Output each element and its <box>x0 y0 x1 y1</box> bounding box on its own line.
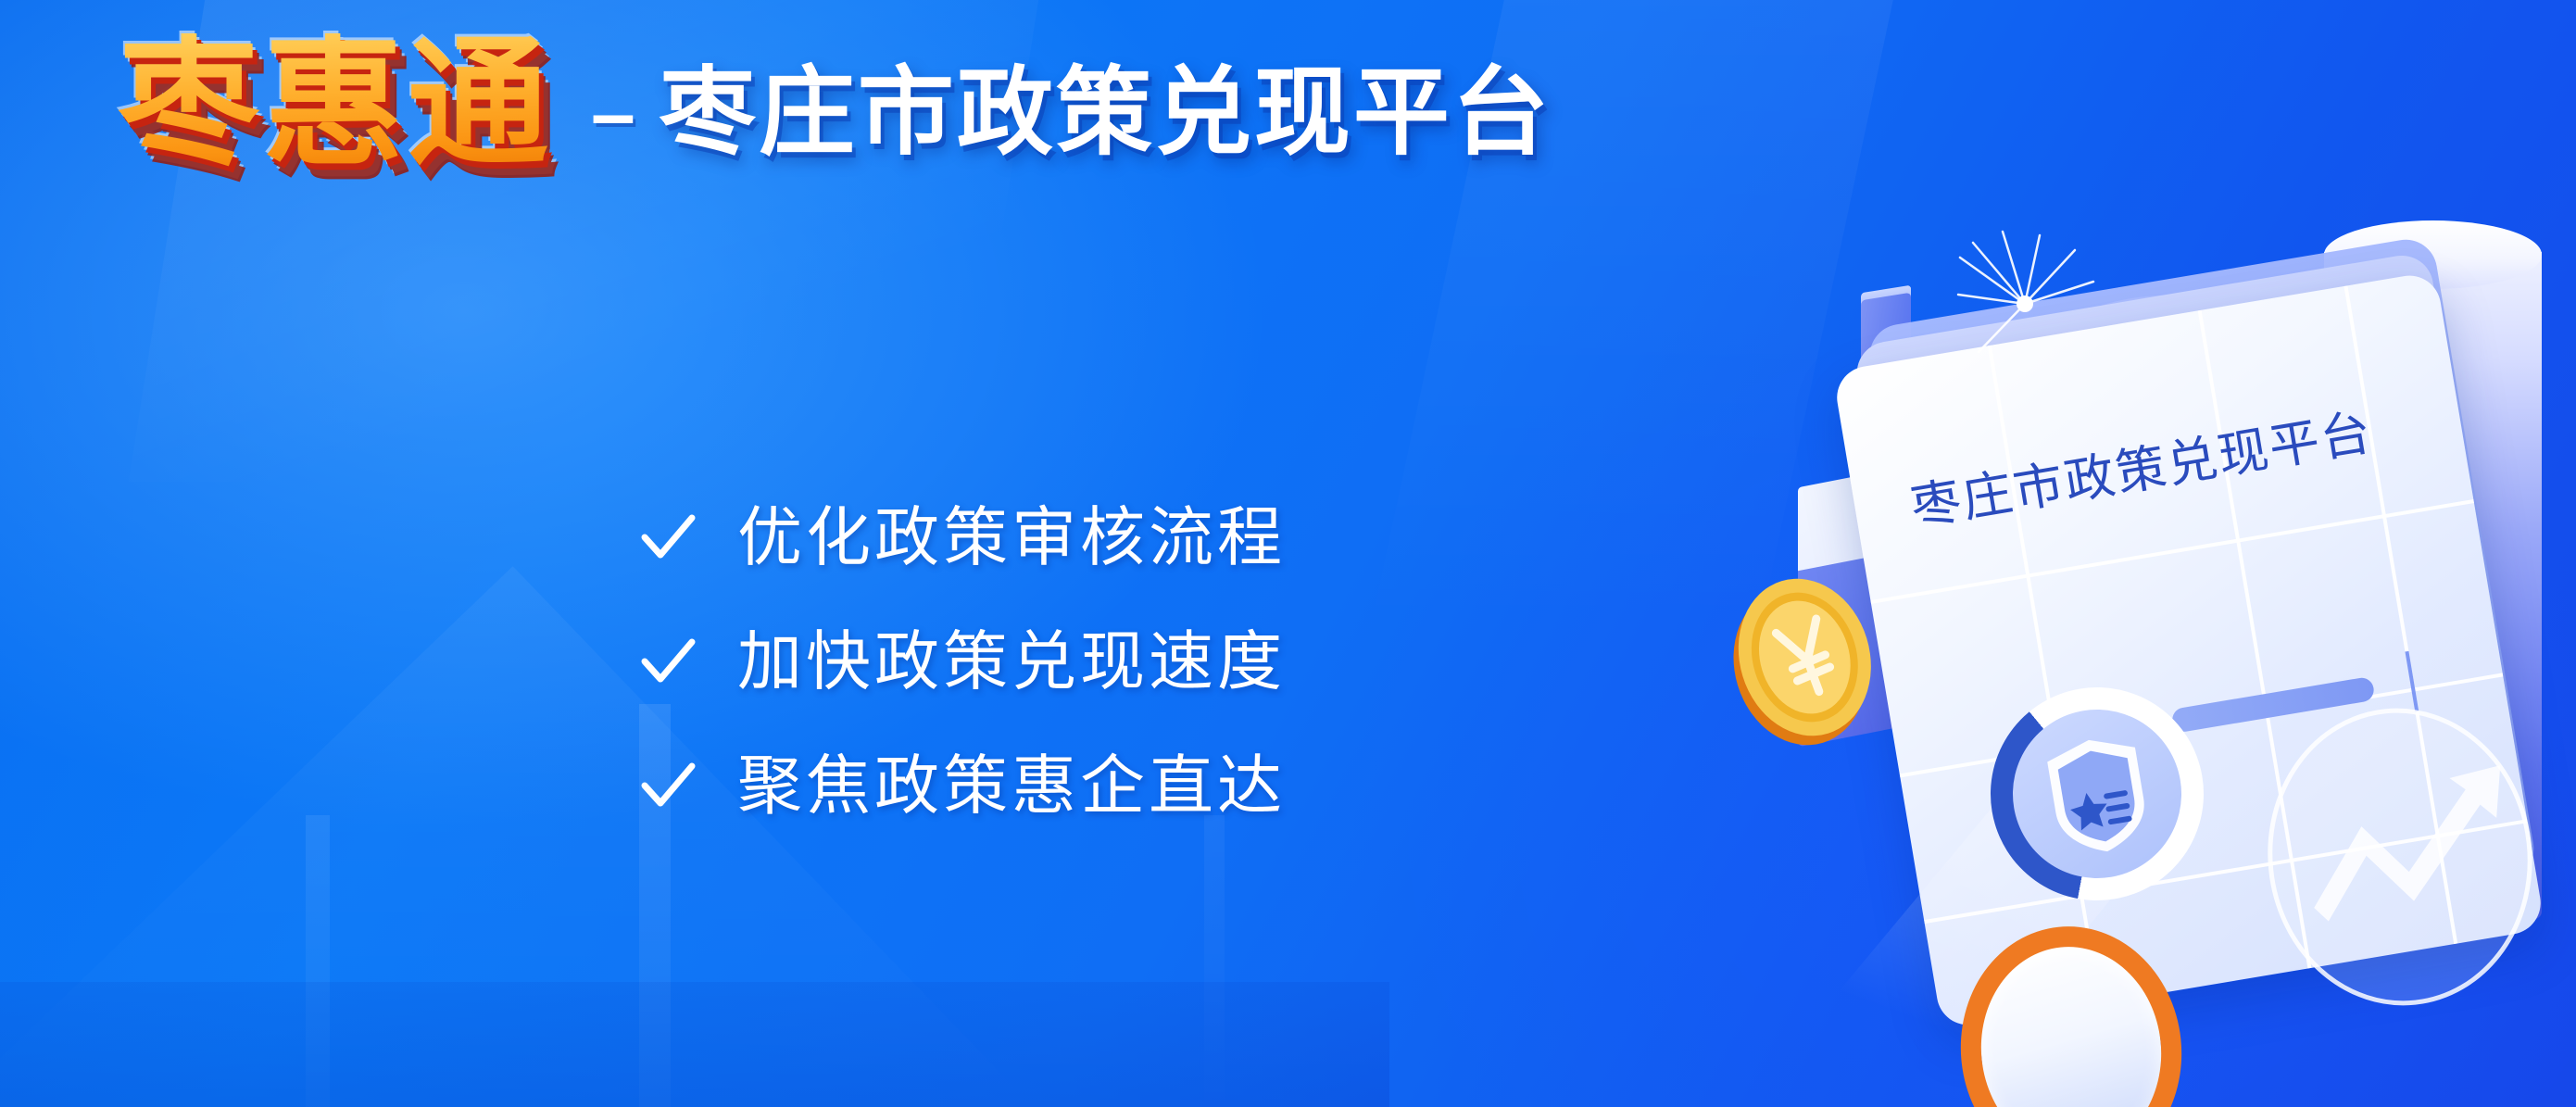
shield-badge-icon <box>2037 730 2158 862</box>
card-caption: 枣庄市政策兑现平台 <box>1907 397 2428 535</box>
headline-separator: – <box>591 74 635 154</box>
check-icon <box>639 633 697 690</box>
brand-title: 枣惠通 <box>111 33 559 174</box>
banner-headline: 枣惠通 – 枣庄市政策兑现平台 <box>111 33 1552 174</box>
check-icon <box>639 509 697 566</box>
feature-list: 优化政策审核流程 加快政策兑现速度 聚焦政策惠企直达 <box>639 505 1286 818</box>
feature-label: 加快政策兑现速度 <box>737 629 1286 694</box>
background-column-left <box>306 815 330 1107</box>
feature-label: 聚焦政策惠企直达 <box>737 753 1286 818</box>
feature-item: 聚焦政策惠企直达 <box>639 753 1286 818</box>
check-icon <box>639 757 697 814</box>
sparkle-icon <box>1951 230 2099 378</box>
background-floor-shade <box>0 982 1389 1107</box>
banner-illustration: 枣庄市政策兑现平台 <box>1779 0 2576 1107</box>
feature-label: 优化政策审核流程 <box>737 505 1286 570</box>
banner-subtitle: 枣庄市政策兑现平台 <box>660 65 1552 161</box>
feature-item: 加快政策兑现速度 <box>639 629 1286 694</box>
background-column-right <box>1204 815 1225 1107</box>
policy-platform-banner: 枣惠通 – 枣庄市政策兑现平台 优化政策审核流程 加快政策兑现速度 <box>0 0 2576 1107</box>
trending-up-arrow-icon <box>2246 690 2555 1024</box>
feature-item: 优化政策审核流程 <box>639 505 1286 570</box>
